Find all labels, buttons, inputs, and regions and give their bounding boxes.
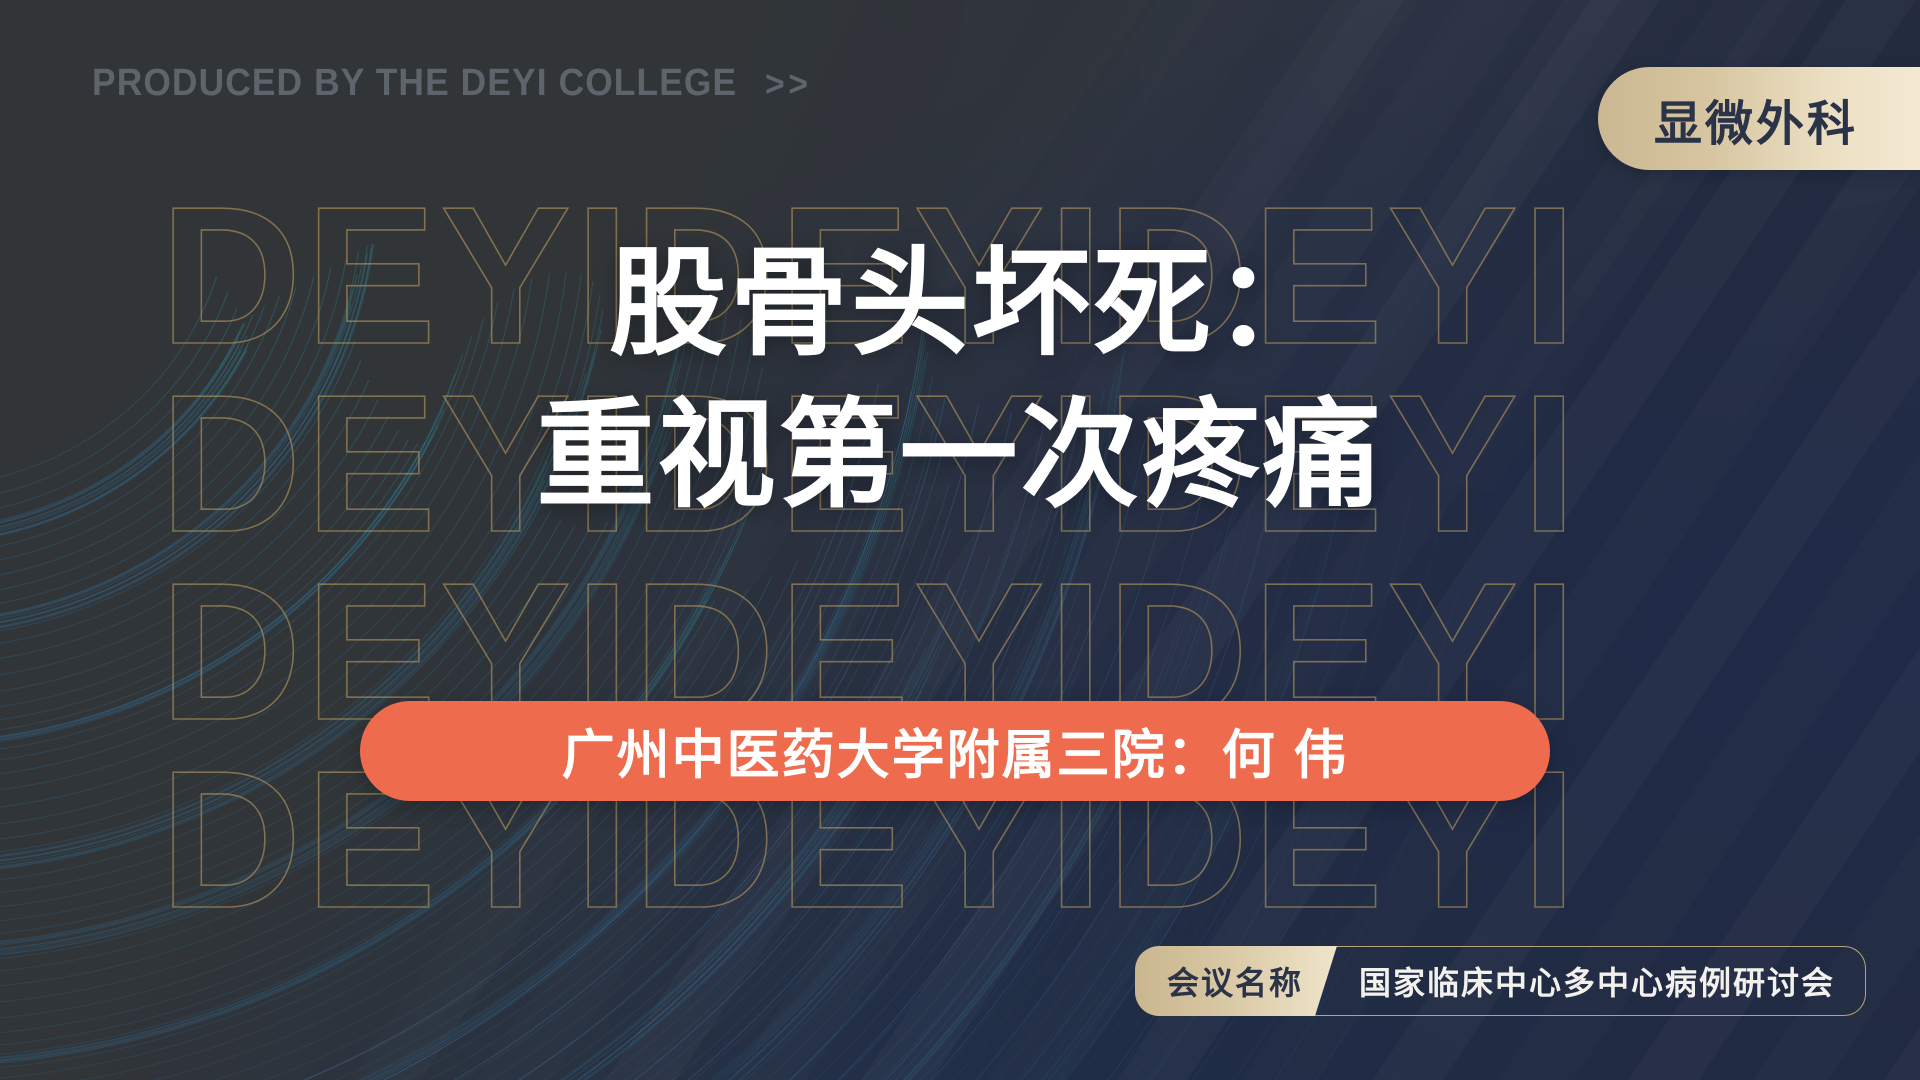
speaker-affiliation-pill: 广州中医药大学附属三院：何 伟 [360, 701, 1550, 801]
speaker-affiliation-text: 广州中医药大学附属三院：何 伟 [562, 713, 1349, 789]
department-badge: 显微外科 [1598, 67, 1920, 170]
department-badge-label: 显微外科 [1654, 84, 1858, 154]
double-chevron-right-icon: >> [765, 63, 812, 105]
presentation-slide: DEYIDEYIDEYI DEYIDEYIDEYI DEYIDEYIDEYI D… [0, 0, 1920, 1080]
conference-badge-label-chip: 会议名称 [1135, 946, 1337, 1016]
conference-name: 国家临床中心多中心病例研讨会 [1359, 958, 1835, 1004]
page-title: 股骨头坏死： 重视第一次疼痛 [0, 228, 1920, 532]
conference-badge-value-chip: 国家临床中心多中心病例研讨会 [1313, 946, 1866, 1016]
conference-badge-label: 会议名称 [1167, 958, 1303, 1004]
producer-kicker-text: PRODUCED BY THE DEYI COLLEGE [92, 62, 737, 105]
producer-kicker: PRODUCED BY THE DEYI COLLEGE >> [92, 62, 812, 105]
title-line-2: 重视第一次疼痛 [0, 380, 1920, 532]
conference-badge: 会议名称 国家临床中心多中心病例研讨会 [1135, 946, 1866, 1016]
title-line-1: 股骨头坏死： [0, 228, 1920, 380]
